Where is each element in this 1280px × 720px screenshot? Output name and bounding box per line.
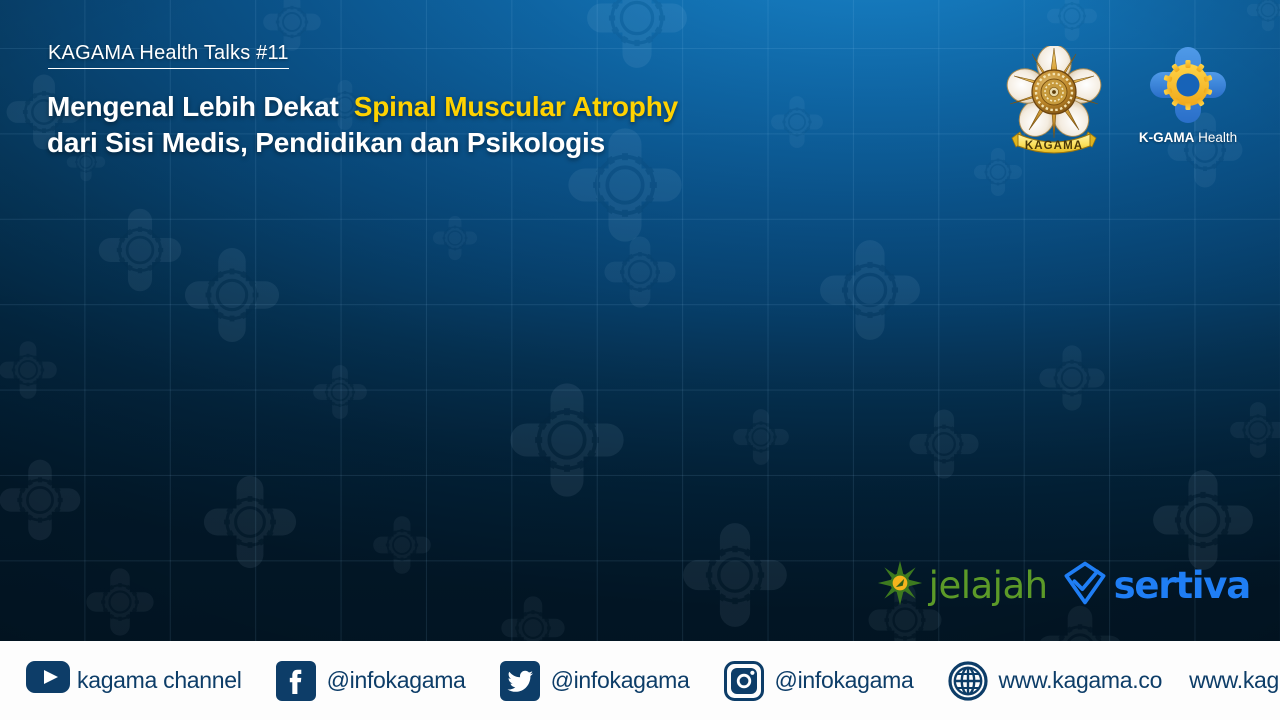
title-line-2: dari Sisi Medis, Pendidikan dan Psikolog…	[47, 125, 867, 161]
globe-icon	[948, 661, 988, 701]
footer-item-instagram[interactable]: @infokagama	[724, 661, 914, 701]
footer-label-secondary[interactable]: www.kagama.id	[1189, 667, 1280, 694]
sertiva-wordmark: sertiva	[1114, 564, 1250, 607]
jelajah-compass-icon	[877, 560, 923, 611]
jelajah-wordmark: jelajah	[929, 564, 1048, 607]
kgama-wordmark-light: Health	[1198, 130, 1237, 145]
partner-sertiva[interactable]: sertiva	[1062, 560, 1250, 611]
footer-item-twitter[interactable]: @infokagama	[500, 661, 690, 701]
kgama-wordmark-bold: K-GAMA	[1139, 130, 1195, 145]
sertiva-shield-check-icon	[1062, 560, 1108, 611]
kgama-health-wordmark: K-GAMA Health	[1139, 130, 1237, 145]
slide-canvas: KAGAMA Health Talks #11 Mengenal Lebih D…	[0, 0, 1280, 720]
footer-items: kagama channel@infokagama@infokagama@inf…	[0, 661, 1280, 701]
facebook-icon	[276, 661, 316, 701]
footer-label: @infokagama	[327, 667, 466, 694]
twitter-icon	[500, 661, 540, 701]
kagama-emblem-icon: KAGAMA	[1006, 46, 1102, 158]
footer-item-facebook[interactable]: @infokagama	[276, 661, 466, 701]
partner-logos: jelajah sertiva	[877, 560, 1250, 611]
footer-item-youtube[interactable]: kagama channel	[26, 661, 242, 701]
title-accent-text: Spinal Muscular Atrophy	[354, 91, 678, 122]
footer-label: @infokagama	[775, 667, 914, 694]
footer-label: @infokagama	[551, 667, 690, 694]
footer-bar: kagama channel@infokagama@infokagama@inf…	[0, 641, 1280, 720]
partner-jelajah[interactable]: jelajah	[877, 560, 1048, 611]
youtube-icon	[26, 661, 66, 701]
instagram-icon	[724, 661, 764, 701]
kgama-cross-gear-icon	[1142, 46, 1234, 124]
footer-label: www.kagama.co	[999, 667, 1163, 694]
footer-item-globe[interactable]: www.kagama.cowww.kagama.id	[948, 661, 1280, 701]
eyebrow-label: KAGAMA Health Talks #11	[48, 42, 289, 69]
footer-label: kagama channel	[77, 667, 242, 694]
title-line-1: Mengenal Lebih Dekat Spinal Muscular Atr…	[47, 89, 867, 125]
page-title: Mengenal Lebih Dekat Spinal Muscular Atr…	[47, 89, 867, 161]
svg-text:KAGAMA: KAGAMA	[1025, 140, 1083, 152]
logo-row: KAGAMA	[1006, 46, 1244, 158]
kgama-health-logo: K-GAMA Health	[1132, 46, 1244, 158]
title-plain-text: Mengenal Lebih Dekat	[47, 91, 339, 122]
